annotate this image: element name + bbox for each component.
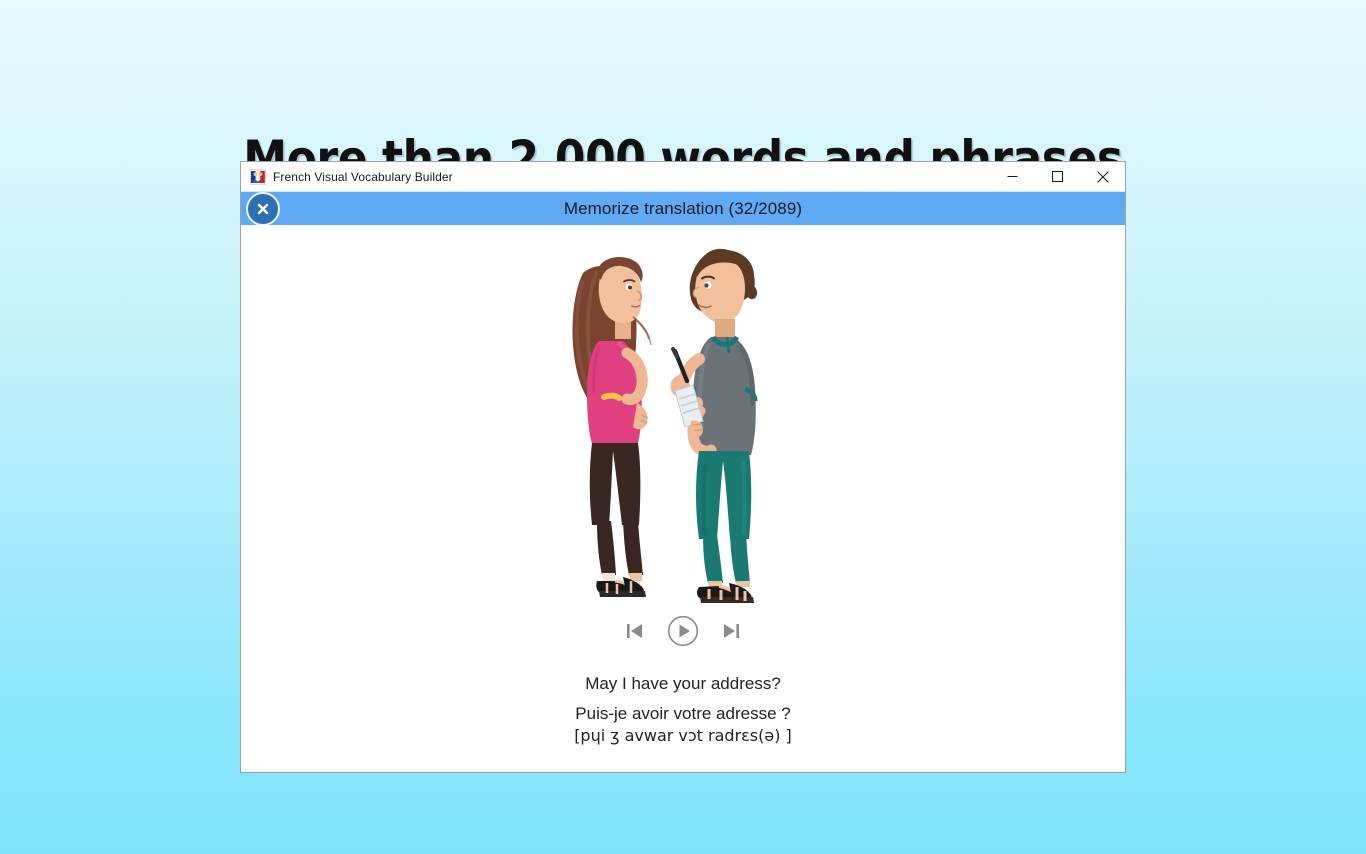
phrase-french: Puis-je avoir votre adresse ?: [241, 703, 1125, 725]
two-characters-illustration: [553, 225, 813, 607]
lesson-illustration: [241, 225, 1125, 607]
application-window: French Visual Vocabulary Builder Memoriz…: [240, 161, 1126, 773]
audio-playback-controls: [241, 607, 1125, 655]
window-title: French Visual Vocabulary Builder: [273, 170, 453, 184]
window-controls: [990, 162, 1125, 191]
close-icon[interactable]: [1080, 162, 1125, 191]
app-header-bar: Memorize translation (32/2089): [241, 191, 1125, 225]
next-track-icon[interactable]: [720, 620, 742, 642]
app-people-flag-icon: [250, 169, 266, 185]
phrase-block: May I have your address? Puis-je avoir v…: [241, 673, 1125, 746]
lesson-content: May I have your address? Puis-je avoir v…: [241, 225, 1125, 772]
minimize-icon[interactable]: [990, 162, 1035, 191]
play-circle-icon[interactable]: [667, 615, 699, 647]
previous-track-icon[interactable]: [624, 620, 646, 642]
character-man: [670, 249, 757, 603]
window-titlebar: French Visual Vocabulary Builder: [241, 162, 1125, 191]
character-woman: [572, 257, 651, 597]
phrase-pronunciation: [pɥi ʒ avwar vɔt radrɛs(ə) ]: [241, 725, 1125, 746]
app-header-title: Memorize translation (32/2089): [564, 199, 802, 219]
maximize-icon[interactable]: [1035, 162, 1080, 191]
phrase-english: May I have your address?: [241, 673, 1125, 695]
close-circle-icon[interactable]: [246, 192, 280, 226]
